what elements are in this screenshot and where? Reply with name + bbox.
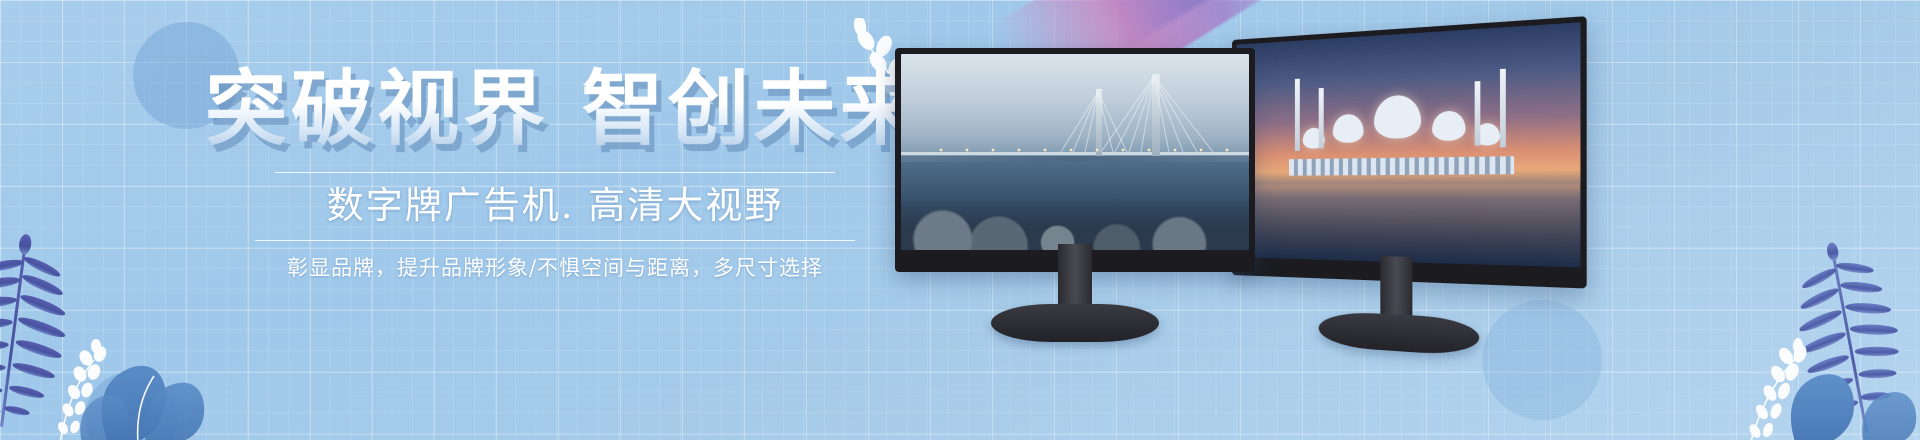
mosque-minaret-inner-left [1319,88,1324,148]
primary-monitor: AOC [895,48,1255,348]
secondary-monitor-screen [1237,22,1581,267]
mosque-minaret-left [1295,79,1300,151]
foreground-rocks [901,199,1249,250]
page-title: 突破视界 智创未来 [205,62,905,158]
banner-tagline: 彰显品牌，提升品牌形象/不惧空间与距离，多尺寸选择 [205,253,905,283]
mosque-dome-right [1432,111,1465,142]
mosque-minaret-right [1500,69,1506,148]
divider-top [275,172,835,173]
banner-subtitle: 数字牌广告机. 高清大视野 [205,182,905,230]
mosque-arcade [1289,157,1514,176]
circle-decoration-bottom [85,372,177,440]
secondary-monitor-stand-base [1319,311,1480,357]
primary-monitor-screen [901,54,1249,250]
mosque-building [1289,87,1514,176]
mosque-dome-center [1374,95,1421,139]
secondary-monitor-bezel: aoc [1232,16,1587,288]
secondary-monitor: aoc [1232,16,1587,364]
banner-copy: 突破视界 智创未来 数字牌广告机. 高清大视野 彰显品牌，提升品牌形象/不惧空间… [205,62,905,283]
divider-bottom [255,240,855,241]
mosque-dome-left [1333,114,1364,143]
primary-monitor-stand-base [991,304,1159,342]
leaf-illustration-bottom-right [1600,230,1920,440]
primary-monitor-bezel: AOC [895,48,1255,272]
promo-banner: 突破视界 智创未来 数字牌广告机. 高清大视野 彰显品牌，提升品牌形象/不惧空间… [0,0,1920,440]
mosque-water-reflection [1237,184,1581,267]
mosque-minaret-inner-right [1475,82,1481,147]
